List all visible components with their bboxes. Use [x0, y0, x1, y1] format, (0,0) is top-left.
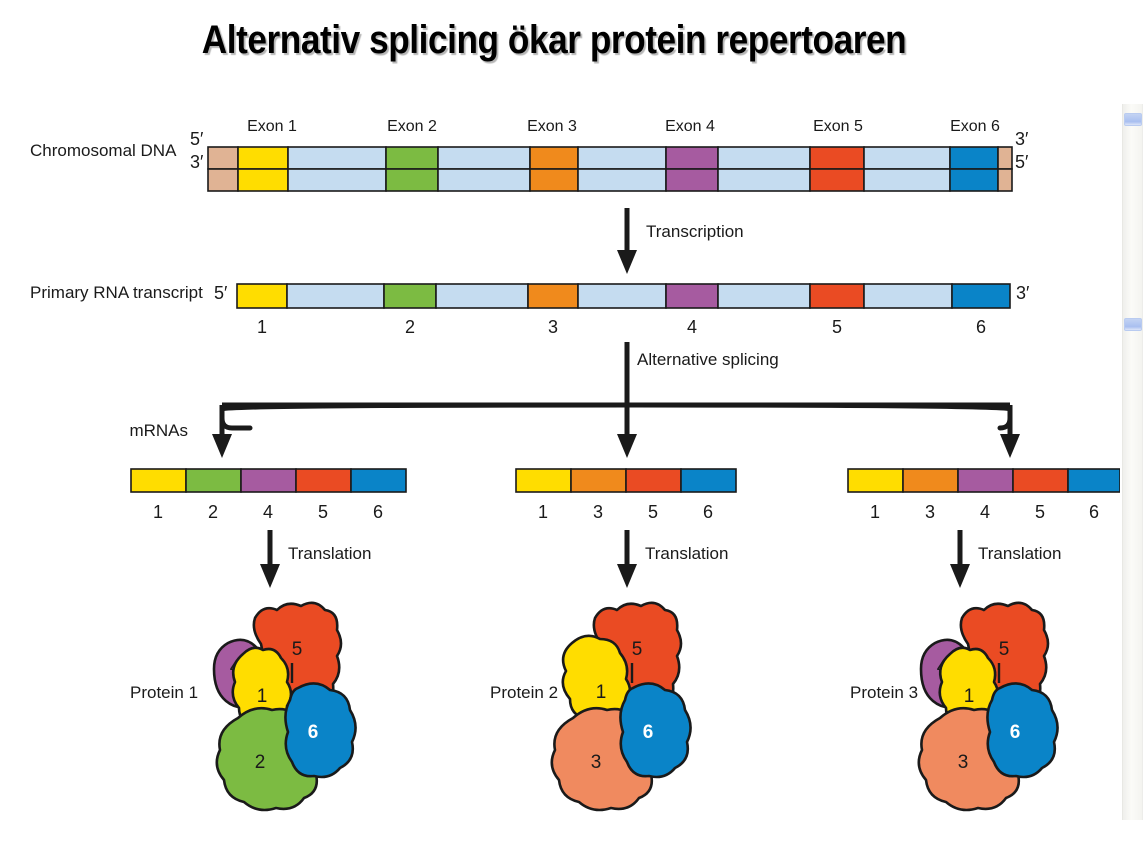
dna-exon-label-1: Exon 1	[247, 118, 297, 135]
mrna-3-group: 1 3 4 5 6	[848, 469, 1120, 522]
protein-2-domain-3-number: 3	[591, 752, 602, 773]
mrna-3-exon-6	[1068, 469, 1120, 492]
mrna-1-number-4: 5	[318, 502, 328, 522]
mrna-3-exon-1	[848, 469, 903, 492]
protein-1-domain-1-number: 1	[257, 686, 268, 707]
mrna-2-exon-1	[516, 469, 571, 492]
slide-bottom-edge	[0, 828, 1148, 848]
mrna-3-exon-3	[903, 469, 958, 492]
mrna-2-number-1: 1	[538, 502, 548, 522]
dna-exon-3-top	[530, 147, 578, 169]
dna-intron-5-bottom	[718, 169, 810, 191]
protein-3-domain-1-number: 1	[964, 686, 975, 707]
protein-2-group: Protein 2 5 1 3 6	[490, 603, 691, 810]
dna-exon-6-top	[950, 147, 998, 169]
mrna-1-exon-6	[351, 469, 406, 492]
dna-five-prime-left: 5′	[190, 129, 204, 149]
mrna-3-number-1: 1	[870, 502, 880, 522]
panel-marker-middle[interactable]	[1124, 318, 1142, 331]
translation-arrow-head-3	[950, 564, 970, 588]
dna-intron-3-bottom	[578, 169, 666, 191]
mrna-arrow-head-1	[212, 434, 232, 458]
dna-three-prime-right: 3′	[1015, 129, 1029, 149]
panel-marker-top[interactable]	[1124, 113, 1142, 126]
dna-exon-5-top	[810, 147, 864, 169]
dna-exon-3-bottom	[530, 169, 578, 191]
protein-3-domain-6	[987, 683, 1057, 777]
dna-intron-6-bottom	[864, 169, 950, 191]
protein-2-label: Protein 2	[490, 683, 558, 702]
dna-intron-2-top	[438, 147, 530, 169]
dna-exon-label-5: Exon 5	[813, 118, 863, 135]
rna-exon-number-6: 6	[976, 317, 986, 337]
dna-exon-label-4: Exon 4	[665, 118, 715, 135]
protein-3-domain-3-number: 3	[958, 752, 969, 773]
rna-exon-2	[384, 284, 436, 308]
chromosomal-dna-group: Chromosomal DNA 5′ 3′ 3′ 5′ Exon 1 Exon …	[30, 118, 1029, 191]
protein-3-group: Protein 3 4 5 1 3 6	[850, 603, 1058, 810]
rna-exon-4	[666, 284, 718, 308]
rna-intron-5	[864, 284, 952, 308]
rna-exon-5	[810, 284, 864, 308]
mrna-2-number-3: 5	[648, 502, 658, 522]
mrna-1-group: 1 2 4 5 6	[131, 469, 406, 522]
mrna-2-number-2: 3	[593, 502, 603, 522]
translation-step-2: Translation	[617, 530, 728, 588]
translation-arrow-head-2	[617, 564, 637, 588]
dna-intron-4-top	[718, 147, 810, 169]
dna-exon-4-bottom	[666, 169, 718, 191]
dna-top-strand	[208, 147, 1012, 169]
mrna-2-exon-3	[571, 469, 626, 492]
dna-exon-6-bottom	[950, 169, 998, 191]
mrna-2-exon-6	[681, 469, 736, 492]
dna-exon-4-top	[666, 147, 718, 169]
alternative-splicing-step: Alternative splicing mRNAs	[129, 342, 1020, 458]
chromosomal-dna-label: Chromosomal DNA	[30, 141, 177, 160]
mrna-1-exon-2	[186, 469, 241, 492]
dna-intron-3-top	[578, 147, 666, 169]
protein-1-domain-5-number: 5	[292, 639, 303, 660]
slide-canvas: Alternativ splicing ökar protein reperto…	[0, 0, 1148, 848]
rna-intron-3	[578, 284, 666, 308]
translation-step-1: Translation	[260, 530, 371, 588]
mrna-2-exon-5	[626, 469, 681, 492]
dna-exon-2-top	[386, 147, 438, 169]
rna-intron-2	[436, 284, 528, 308]
dna-intron-1-top	[288, 147, 386, 169]
protein-1-domain-6-number: 6	[308, 722, 319, 743]
dna-three-prime-left: 3′	[190, 152, 204, 172]
dna-intron-5-top	[864, 147, 950, 169]
mrna-3-number-3: 4	[980, 502, 990, 522]
rna-exon-number-2: 2	[405, 317, 415, 337]
dna-exon-2-bottom	[386, 169, 438, 191]
dna-flank-right-top	[998, 147, 1012, 169]
rna-exon-6	[952, 284, 1010, 308]
mrna-2-group: 1 3 5 6	[516, 469, 736, 522]
primary-rna-label: Primary RNA transcript	[30, 283, 203, 302]
rna-exon-number-1: 1	[257, 317, 267, 337]
mrna-1-exon-1	[131, 469, 186, 492]
protein-1-label: Protein 1	[130, 683, 198, 702]
mrna-3-number-2: 3	[925, 502, 935, 522]
mrna-1-number-5: 6	[373, 502, 383, 522]
mrna-2-number-4: 6	[703, 502, 713, 522]
transcription-arrow-head	[617, 250, 637, 274]
protein-1-domain-2-number: 2	[255, 752, 266, 773]
translation-label-2: Translation	[645, 544, 728, 563]
protein-3-domain-6-number: 6	[1010, 722, 1021, 743]
protein-3-label: Protein 3	[850, 683, 918, 702]
dna-exon-label-3: Exon 3	[527, 118, 577, 135]
protein-1-domain-6	[285, 683, 355, 777]
dna-exon-1-top	[238, 147, 288, 169]
mrna-3-exon-4	[958, 469, 1013, 492]
mrna-3-exon-5	[1013, 469, 1068, 492]
translation-step-3: Translation	[950, 530, 1061, 588]
dna-bottom-strand	[208, 169, 1012, 191]
mrnas-label: mRNAs	[129, 421, 188, 440]
primary-rna-transcript-group: Primary RNA transcript 5′ 3′ 1 2 3 4 5 6	[30, 283, 1030, 337]
transcription-step: Transcription	[617, 208, 744, 274]
dna-exon-label-2: Exon 2	[387, 118, 437, 135]
dna-intron-1-bottom	[288, 169, 386, 191]
splicing-branch-bracket	[222, 405, 1010, 428]
mrna-1-exon-4	[241, 469, 296, 492]
mrna-arrow-head-3	[1000, 434, 1020, 458]
protein-2-domain-6	[620, 683, 690, 777]
translation-label-1: Translation	[288, 544, 371, 563]
protein-3-domain-5-number: 5	[999, 639, 1010, 660]
translation-arrow-head-1	[260, 564, 280, 588]
transcription-label: Transcription	[646, 222, 744, 241]
mrna-arrow-head-2	[617, 434, 637, 458]
dna-five-prime-right: 5′	[1015, 152, 1029, 172]
side-scroll-panel[interactable]	[1122, 104, 1143, 820]
dna-flank-right-bottom	[998, 169, 1012, 191]
mrna-1-number-3: 4	[263, 502, 273, 522]
mrna-1-number-2: 2	[208, 502, 218, 522]
mrna-3-number-4: 5	[1035, 502, 1045, 522]
dna-flank-left-bottom	[208, 169, 238, 191]
protein-2-domain-1-number: 1	[596, 682, 607, 703]
rna-exon-number-4: 4	[687, 317, 697, 337]
rna-exon-number-3: 3	[548, 317, 558, 337]
protein-1-group: Protein 1 4 5 1 2 6	[130, 603, 356, 810]
rna-exon-number-5: 5	[832, 317, 842, 337]
rna-five-prime: 5′	[214, 283, 228, 303]
protein-2-domain-5-number: 5	[632, 639, 643, 660]
dna-intron-2-bottom	[438, 169, 530, 191]
dna-exon-1-bottom	[238, 169, 288, 191]
mrna-1-number-1: 1	[153, 502, 163, 522]
rna-exon-1	[237, 284, 287, 308]
rna-three-prime: 3′	[1016, 283, 1030, 303]
rna-intron-4	[718, 284, 810, 308]
dna-exon-5-bottom	[810, 169, 864, 191]
translation-label-3: Translation	[978, 544, 1061, 563]
rna-intron-1	[287, 284, 384, 308]
mrna-1-exon-5	[296, 469, 351, 492]
dna-flank-left-top	[208, 147, 238, 169]
alternative-splicing-diagram: Chromosomal DNA 5′ 3′ 3′ 5′ Exon 1 Exon …	[0, 98, 1120, 828]
rna-exon-3	[528, 284, 578, 308]
mrna-3-number-5: 6	[1089, 502, 1099, 522]
protein-2-domain-6-number: 6	[643, 722, 654, 743]
page-title: Alternativ splicing ökar protein reperto…	[66, 18, 1041, 63]
alternative-splicing-label: Alternative splicing	[637, 350, 779, 369]
dna-exon-label-6: Exon 6	[950, 118, 1000, 135]
